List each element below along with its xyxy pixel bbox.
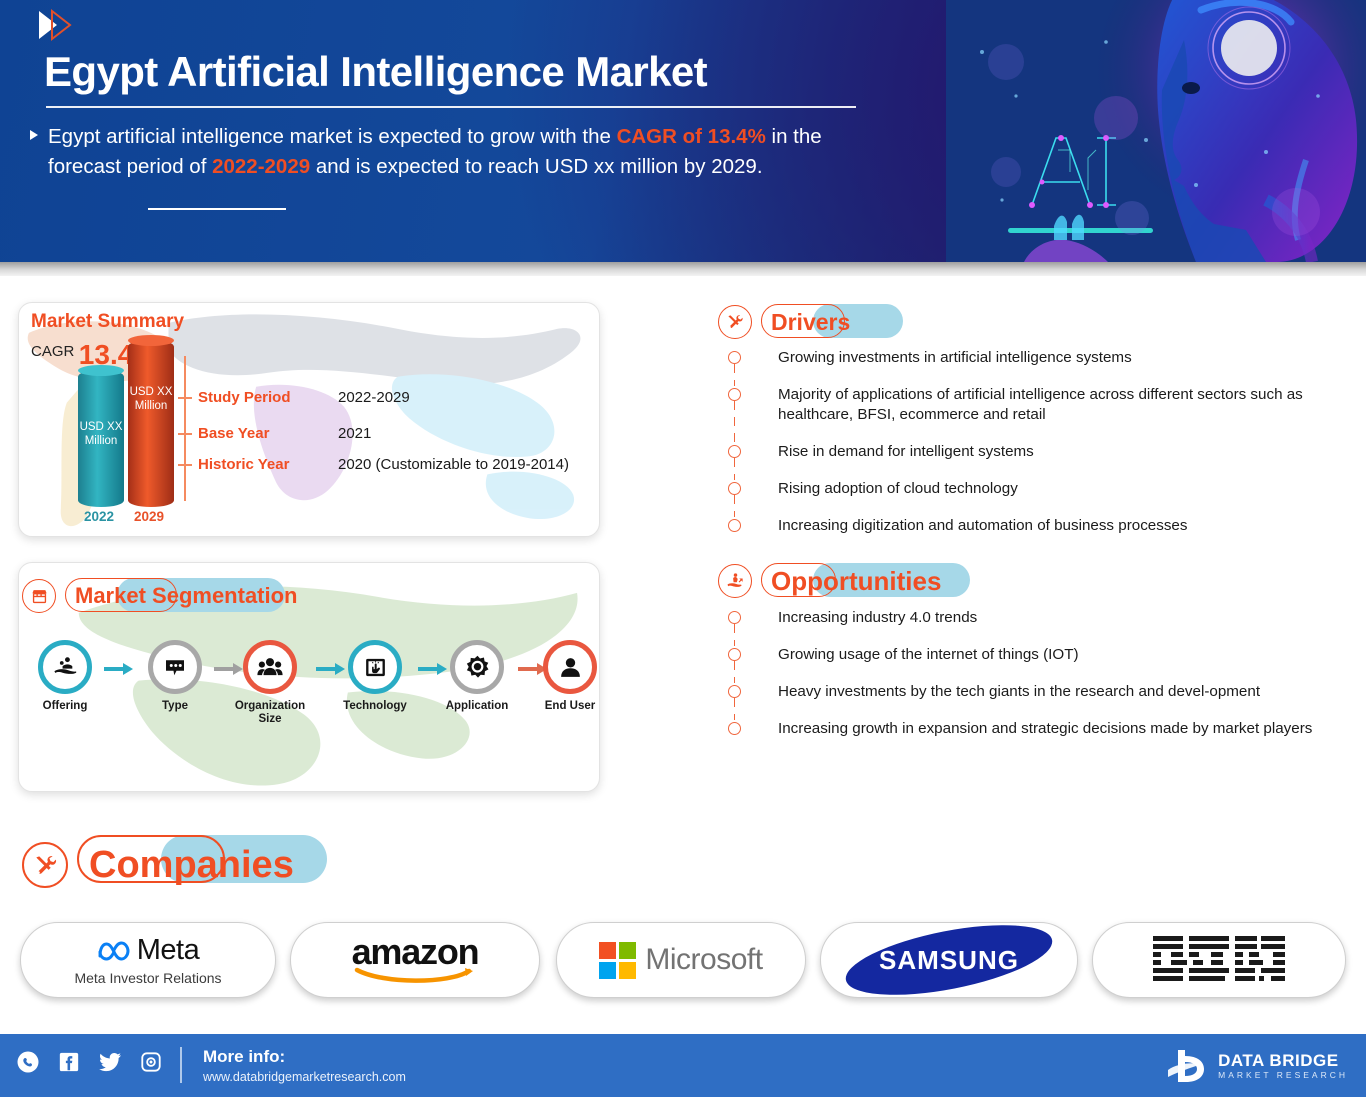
list-connector-line <box>734 458 735 480</box>
segment-application-label: Application <box>438 700 516 713</box>
list-bullet-circle <box>728 519 741 532</box>
microsoft-squares-icon <box>599 942 636 979</box>
meta-logo-row: Meta <box>97 934 199 967</box>
segment-type[interactable]: Type <box>136 640 214 713</box>
ai-robot-artwork <box>946 0 1366 262</box>
summary-value-historic-year: 2020 (Customizable to 2019-2014) <box>338 456 569 473</box>
header-subtitle-block: Egypt artificial intelligence market is … <box>30 122 870 182</box>
speech-bubble-icon <box>148 640 202 694</box>
summary-value-study-period: 2022-2029 <box>338 389 410 406</box>
list-item: Growing investments in artificial intell… <box>728 348 1318 368</box>
list-item: Increasing digitization and automation o… <box>728 516 1318 536</box>
list-item: Rising adoption of cloud technology <box>728 479 1318 499</box>
hand-offering-icon <box>38 640 92 694</box>
list-connector-line <box>734 495 735 517</box>
tools-icon-companies <box>22 842 68 888</box>
summary-tick-3 <box>178 464 192 466</box>
bar-2022-cap <box>78 365 124 376</box>
list-item: Heavy investments by the tech giants in … <box>728 682 1318 702</box>
list-connector-line <box>734 624 735 646</box>
segment-technology[interactable]: Technology <box>336 640 414 713</box>
bar-2029-year: 2029 <box>134 509 164 524</box>
companies-badge-pill: Companies <box>77 842 306 888</box>
gear-icon <box>450 640 504 694</box>
list-item: Rise in demand for intelligent systems <box>728 442 1318 462</box>
list-bullet-circle <box>728 685 741 698</box>
user-icon <box>543 640 597 694</box>
brand-logo: DATA BRIDGE MARKET RESEARCH <box>1164 1046 1348 1086</box>
ibm-striped-wordmark-icon <box>1149 932 1289 988</box>
title-underline <box>46 106 856 108</box>
summary-vertical-rule <box>184 356 186 501</box>
hand-growth-icon <box>718 564 752 598</box>
segment-organization-size[interactable]: Organization Size <box>231 640 309 726</box>
amazon-smile-icon <box>353 965 477 985</box>
segmentation-flow: Offering Type <box>26 640 586 750</box>
market-segmentation-badge: Market Segmentation <box>22 579 308 613</box>
list-bullet-circle <box>728 722 741 735</box>
segment-organization-size-label: Organization Size <box>231 700 309 726</box>
drivers-badge-pill: Drivers <box>761 307 860 337</box>
company-logo-samsung[interactable]: SAMSUNG <box>820 922 1078 998</box>
segment-type-label: Type <box>136 700 214 713</box>
summary-label-study-period: Study Period <box>198 389 291 406</box>
infographic-page: Egypt Artificial Intelligence Market Egy… <box>0 0 1366 1097</box>
company-logo-meta[interactable]: Meta Meta Investor Relations <box>20 922 276 998</box>
arrow-right-icon-1 <box>104 662 134 676</box>
period-highlight: 2022-2029 <box>212 155 310 178</box>
microsoft-wordmark: Microsoft <box>645 943 762 977</box>
cagr-label: CAGR <box>31 343 74 360</box>
people-group-icon <box>243 640 297 694</box>
segment-application[interactable]: Application <box>438 640 516 713</box>
drivers-badge-label: Drivers <box>761 309 860 336</box>
bar-2022-label: USD XX Million <box>78 420 124 448</box>
subtitle-underline <box>148 208 286 210</box>
segment-end-user[interactable]: End User <box>531 640 609 713</box>
header-banner: Egypt Artificial Intelligence Market Egy… <box>0 0 1366 262</box>
segment-end-user-label: End User <box>531 700 609 713</box>
driver-text-2: Majority of applications of artificial i… <box>778 385 1318 425</box>
touch-screen-icon <box>348 640 402 694</box>
bar-2029: USD XX Million <box>128 340 174 507</box>
subtitle-text-3: and is expected to reach USD xx million … <box>310 155 762 178</box>
opportunities-badge-pill: Opportunities <box>761 566 951 596</box>
company-logo-amazon[interactable]: amazon <box>290 922 540 998</box>
footer-more-info-label: More info: <box>203 1047 285 1067</box>
cagr-highlight: CAGR of 13.4% <box>617 125 766 148</box>
header-subtitle: Egypt artificial intelligence market is … <box>48 122 870 182</box>
tools-icon <box>718 305 752 339</box>
header-divider-strip <box>0 262 1366 276</box>
driver-text-4: Rising adoption of cloud technology <box>778 479 1318 499</box>
subtitle-text-1: Egypt artificial intelligence market is … <box>48 125 617 148</box>
list-item: Majority of applications of artificial i… <box>728 385 1318 425</box>
list-item: Growing usage of the internet of things … <box>728 645 1318 665</box>
play-arrow-logo-icon <box>37 8 79 42</box>
samsung-wordmark: SAMSUNG <box>879 945 1019 976</box>
opportunity-text-1: Increasing industry 4.0 trends <box>778 608 1318 628</box>
opportunity-text-4: Increasing growth in expansion and strat… <box>778 719 1318 739</box>
meta-infinity-icon <box>97 940 131 962</box>
opportunity-text-2: Growing usage of the internet of things … <box>778 645 1318 665</box>
brand-sublabel: MARKET RESEARCH <box>1218 1070 1348 1080</box>
list-bullet-circle <box>728 388 741 401</box>
summary-tick-1 <box>178 397 192 399</box>
list-connector-line <box>734 401 735 443</box>
summary-tick-2 <box>178 433 192 435</box>
opportunity-text-3: Heavy investments by the tech giants in … <box>778 682 1318 702</box>
whatsapp-icon[interactable] <box>16 1050 40 1074</box>
samsung-ellipse-icon: SAMSUNG <box>844 931 1054 989</box>
bar-2022: USD XX Million <box>78 370 124 507</box>
twitter-icon[interactable] <box>98 1050 122 1074</box>
drivers-list: Growing investments in artificial intell… <box>728 348 1318 553</box>
footer-divider <box>180 1047 182 1083</box>
page-title: Egypt Artificial Intelligence Market <box>44 48 707 96</box>
meta-sublabel: Meta Investor Relations <box>74 970 221 986</box>
market-summary-title: Market Summary <box>31 311 184 333</box>
opportunities-badge: Opportunities <box>718 564 951 598</box>
company-logo-ibm[interactable] <box>1092 922 1346 998</box>
summary-value-base-year: 2021 <box>338 425 371 442</box>
segmentation-badge-label: Market Segmentation <box>65 583 308 609</box>
company-logo-microsoft[interactable]: Microsoft <box>556 922 806 998</box>
list-bullet-circle <box>728 445 741 458</box>
list-bullet-circle <box>728 351 741 364</box>
data-bridge-mark-icon <box>1164 1046 1210 1086</box>
segment-technology-label: Technology <box>336 700 414 713</box>
bar-2029-label: USD XX Million <box>128 385 174 413</box>
footer-url[interactable]: www.databridgemarketresearch.com <box>203 1070 406 1084</box>
driver-text-5: Increasing digitization and automation o… <box>778 516 1318 536</box>
meta-wordmark: Meta <box>137 934 199 967</box>
opportunities-badge-label: Opportunities <box>761 566 951 597</box>
amazon-wordmark: amazon <box>352 935 479 969</box>
bar-2029-cap <box>128 335 174 346</box>
microsoft-logo-row: Microsoft <box>599 942 762 979</box>
segment-offering[interactable]: Offering <box>26 640 104 713</box>
opportunities-list: Increasing industry 4.0 trends Growing u… <box>728 608 1318 756</box>
companies-badge: Companies <box>22 842 306 888</box>
driver-text-3: Rise in demand for intelligent systems <box>778 442 1318 462</box>
drivers-badge: Drivers <box>718 305 860 339</box>
facebook-icon[interactable] <box>58 1051 80 1073</box>
store-icon <box>22 579 56 613</box>
companies-badge-label: Companies <box>77 844 306 887</box>
bar-2022-year: 2022 <box>84 509 114 524</box>
segment-offering-label: Offering <box>26 700 104 713</box>
footer-bar: More info: www.databridgemarketresearch.… <box>0 1034 1366 1097</box>
brand-name: DATA BRIDGE <box>1218 1052 1348 1070</box>
list-connector-line <box>734 698 735 720</box>
driver-text-1: Growing investments in artificial intell… <box>778 348 1318 368</box>
summary-label-historic-year: Historic Year <box>198 456 289 473</box>
social-icons <box>16 1050 162 1074</box>
bullet-triangle-icon <box>30 130 38 140</box>
segmentation-badge-pill: Market Segmentation <box>65 581 308 611</box>
list-item: Increasing industry 4.0 trends <box>728 608 1318 628</box>
summary-label-base-year: Base Year <box>198 425 269 442</box>
list-connector-line <box>734 661 735 683</box>
list-bullet-circle <box>728 482 741 495</box>
list-bullet-circle <box>728 611 741 624</box>
list-connector-line <box>734 364 735 386</box>
list-bullet-circle <box>728 648 741 661</box>
list-item: Increasing growth in expansion and strat… <box>728 719 1318 739</box>
instagram-icon[interactable] <box>140 1051 162 1073</box>
